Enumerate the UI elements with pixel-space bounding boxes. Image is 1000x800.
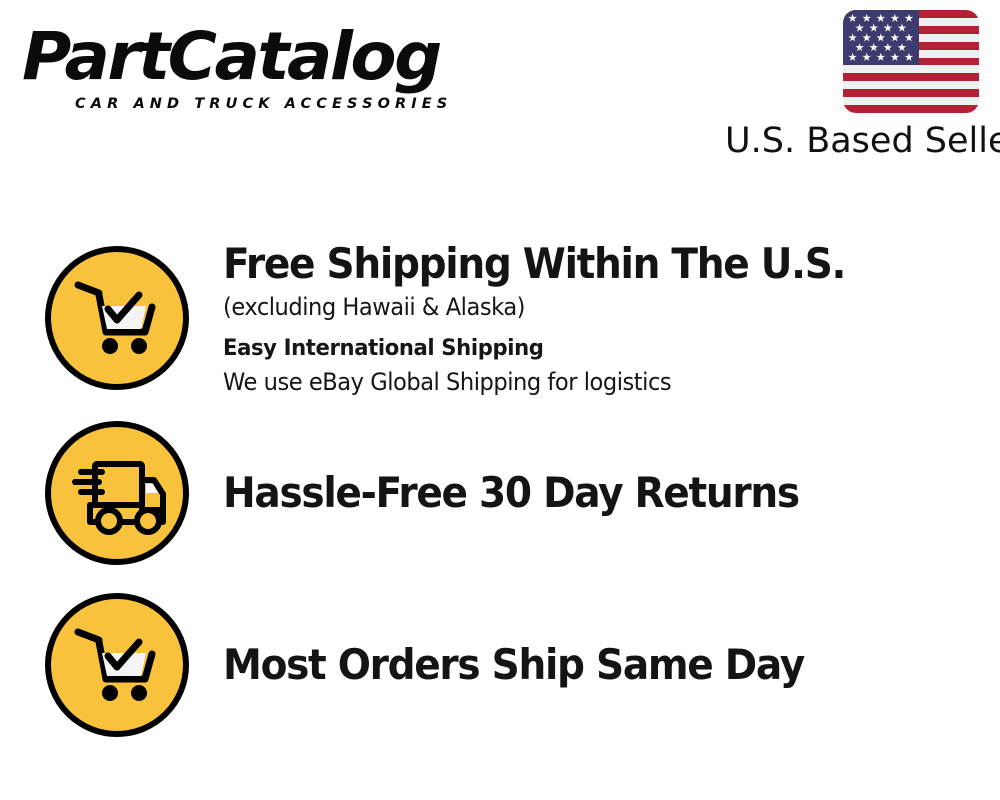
flag-star <box>862 33 871 42</box>
feature-headline: Free Shipping Within The U.S. <box>223 239 930 289</box>
flag-stripe <box>843 65 979 73</box>
feature-text-block: Most Orders Ship Same Day <box>223 640 983 690</box>
shopping-cart-check-icon <box>42 590 192 740</box>
flag-star <box>890 33 899 42</box>
flag-star-row <box>843 23 919 32</box>
feature-text-block: Hassle-Free 30 Day Returns <box>223 468 983 518</box>
flag-star <box>848 33 857 42</box>
feature-row: Free Shipping Within The U.S. (excluding… <box>0 243 1000 408</box>
flag-star <box>904 33 913 42</box>
flag-stripe <box>843 89 979 97</box>
brand-logo: PartCatalog CAR AND TRUCK ACCESSORIES <box>22 22 492 112</box>
seller-banner: PartCatalog CAR AND TRUCK ACCESSORIES <box>0 0 1000 800</box>
flag-star <box>876 33 885 42</box>
flag-star <box>904 14 913 23</box>
flag-star <box>848 53 857 62</box>
flag-star <box>876 53 885 62</box>
flag-stripe <box>843 73 979 81</box>
flag-star <box>897 23 906 32</box>
flag-stripe <box>843 105 979 113</box>
flag-star <box>855 43 864 52</box>
brand-wordmark: PartCatalog <box>22 22 501 92</box>
flag-star <box>876 14 885 23</box>
delivery-truck-icon <box>42 418 192 568</box>
flag-star <box>855 23 864 32</box>
feature-row: Hassle-Free 30 Day Returns <box>0 418 1000 570</box>
us-based-seller-label: U.S. Based Seller <box>725 120 990 162</box>
flag-star <box>869 23 878 32</box>
flag-star <box>897 43 906 52</box>
flag-star-row <box>843 33 919 42</box>
brand-tagline: CAR AND TRUCK ACCESSORIES <box>75 95 495 113</box>
flag-star <box>869 43 878 52</box>
flag-star <box>890 53 899 62</box>
flag-star-row <box>843 43 919 52</box>
flag-star <box>862 53 871 62</box>
flag-star <box>848 14 857 23</box>
flag-star-row <box>843 14 919 23</box>
flag-star-row <box>843 53 919 62</box>
shopping-cart-check-icon <box>42 243 192 393</box>
feature-subline: (excluding Hawaii & Alaska) <box>223 291 937 324</box>
feature-subline: Easy International Shipping <box>223 332 937 365</box>
flag-star <box>904 53 913 62</box>
us-flag-icon <box>843 10 979 113</box>
feature-text-block: Free Shipping Within The U.S. (excluding… <box>223 239 983 399</box>
feature-headline: Hassle-Free 30 Day Returns <box>223 468 930 518</box>
feature-headline: Most Orders Ship Same Day <box>223 640 930 690</box>
flag-stripe <box>843 97 979 105</box>
flag-star <box>890 14 899 23</box>
feature-row: Most Orders Ship Same Day <box>0 590 1000 742</box>
feature-subline: We use eBay Global Shipping for logistic… <box>223 366 937 399</box>
flag-star <box>883 43 892 52</box>
flag-canton <box>843 10 919 65</box>
flag-star <box>862 14 871 23</box>
flag-stripe <box>843 81 979 89</box>
flag-star <box>883 23 892 32</box>
